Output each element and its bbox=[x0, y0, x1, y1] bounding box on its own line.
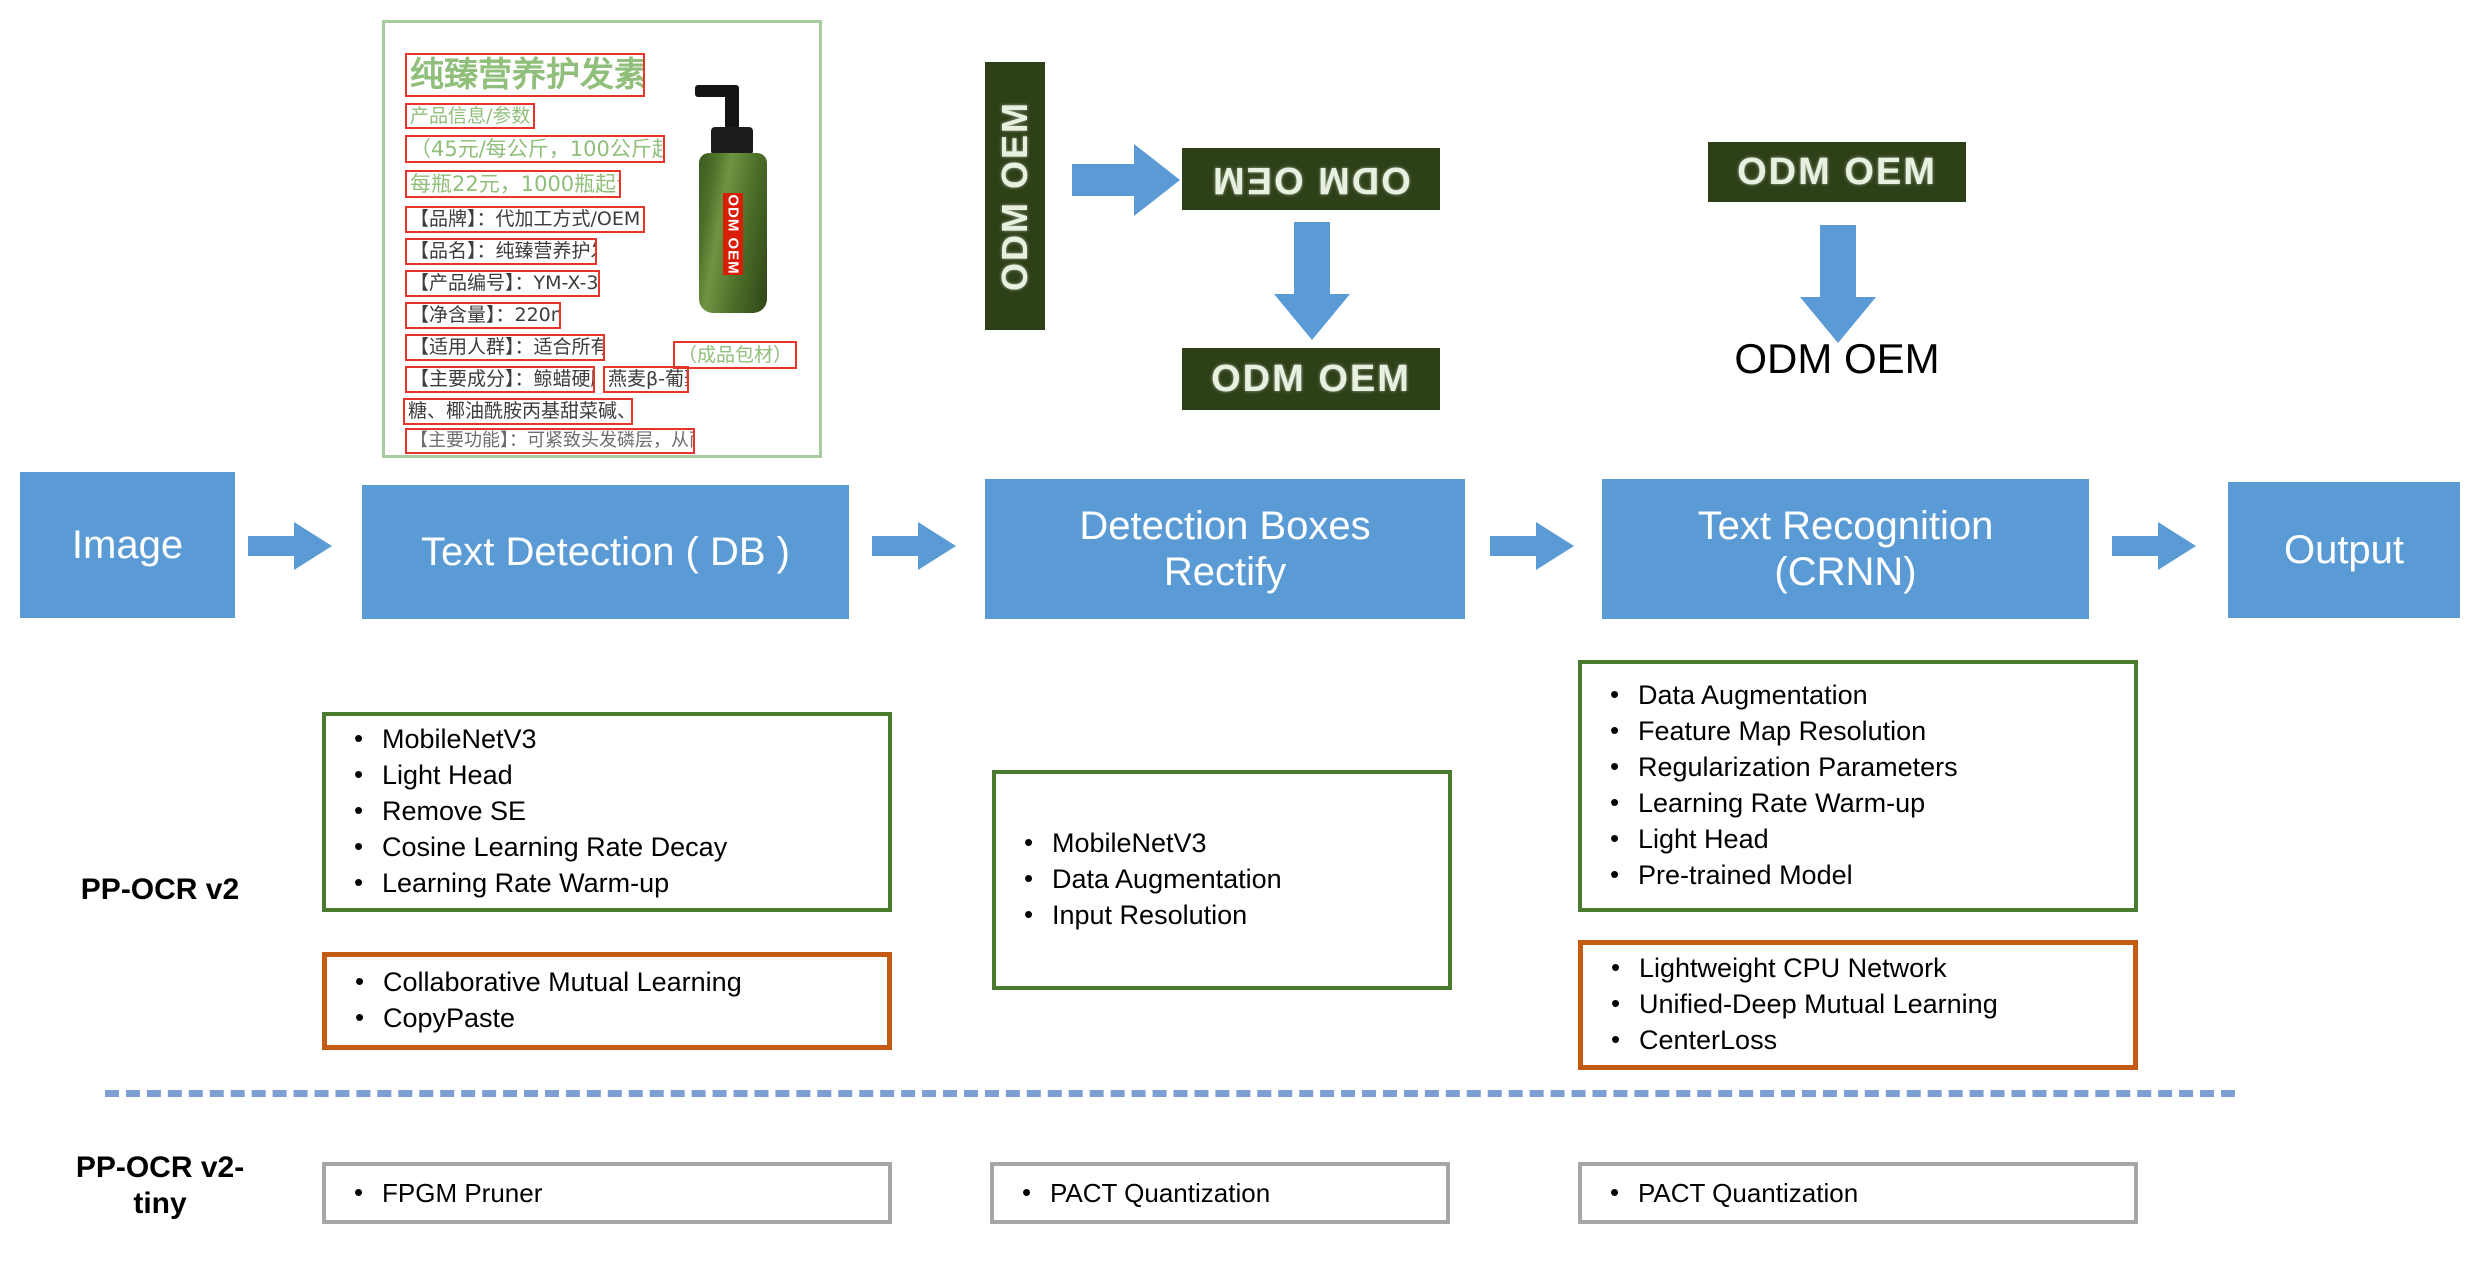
feature-box-recognition-green: Data Augmentation Feature Map Resolution… bbox=[1578, 660, 2138, 912]
feature-item: Remove SE bbox=[348, 794, 866, 830]
feature-list: FPGM Pruner bbox=[348, 1176, 866, 1211]
feature-item: Learning Rate Warm-up bbox=[1604, 786, 2112, 822]
arrow-rectify-to-recognition bbox=[1490, 520, 1575, 572]
input-line-text: 【主要成分】：鲸蜡硬脂醇 bbox=[410, 370, 595, 389]
crop-vertical-odm-oem: ODM OEM bbox=[985, 62, 1045, 330]
crop-corrected-text: ODM OEM bbox=[1211, 358, 1411, 401]
stage-text-detection-label: Text Detection ( DB ) bbox=[421, 529, 790, 575]
detection-box-line: （45元/每公斤，100公斤起订） bbox=[405, 135, 665, 163]
bottle-label-text: ODM OEM bbox=[725, 194, 742, 274]
product-bottle-image: ODM OEM bbox=[685, 83, 795, 333]
bottle-collar bbox=[711, 127, 753, 155]
input-line-text: 每瓶22元，1000瓶起订 bbox=[410, 174, 621, 195]
input-line-text: 燕麦β-葡聚 bbox=[608, 370, 689, 389]
feature-item: Unified-Deep Mutual Learning bbox=[1605, 987, 2111, 1023]
feature-item: Input Resolution bbox=[1018, 898, 1426, 934]
feature-item: MobileNetV3 bbox=[1018, 826, 1426, 862]
crop-recognition-input: ODM OEM bbox=[1708, 142, 1966, 202]
input-line-text: 【主要功能】：可紧致头发磷层，从而达到 bbox=[410, 432, 695, 450]
arrow-recognition-to-output bbox=[2112, 520, 2197, 572]
stage-detection-boxes-rectify[interactable]: Detection Boxes Rectify bbox=[985, 479, 1465, 619]
feature-item: Regularization Parameters bbox=[1604, 750, 2112, 786]
feature-item: Pre-trained Model bbox=[1604, 858, 2112, 894]
arrow-rectify-down bbox=[1272, 222, 1352, 342]
input-line-text: 【净含量】：220ml bbox=[410, 306, 561, 325]
detection-box-line: 【适用人群】：适合所有肤质 bbox=[405, 334, 605, 361]
stage-image-label: Image bbox=[72, 522, 183, 568]
feature-item: Data Augmentation bbox=[1018, 862, 1426, 898]
row-label-ppocr-v2: PP-OCR v2 bbox=[30, 872, 290, 908]
recognized-text-output: ODM OEM bbox=[1708, 335, 1966, 383]
feature-item: FPGM Pruner bbox=[348, 1176, 866, 1211]
input-line-text: 产品信息/参数 bbox=[410, 107, 530, 126]
stage-output-label: Output bbox=[2284, 527, 2404, 573]
detection-box-bottle-caption: （成品包材） bbox=[673, 341, 797, 369]
detection-box-line: 【净含量】：220ml bbox=[405, 302, 561, 329]
input-line-text: （45元/每公斤，100公斤起订） bbox=[410, 139, 665, 160]
feature-item: CopyPaste bbox=[349, 1001, 865, 1037]
feature-item: Collaborative Mutual Learning bbox=[349, 965, 865, 1001]
feature-list: PACT Quantization bbox=[1016, 1176, 1424, 1211]
arrow-detection-to-rectify bbox=[872, 520, 957, 572]
stage-text-recognition-label: Text Recognition (CRNN) bbox=[1698, 503, 1994, 595]
detection-box-line: 【主要成分】：鲸蜡硬脂醇 bbox=[405, 366, 595, 393]
detection-box-line: 【主要功能】：可紧致头发磷层，从而达到 bbox=[405, 428, 695, 454]
detection-box-line: 燕麦β-葡聚 bbox=[603, 366, 689, 393]
stage-text-recognition[interactable]: Text Recognition (CRNN) bbox=[1602, 479, 2089, 619]
stage-image[interactable]: Image bbox=[20, 472, 235, 618]
feature-item: CenterLoss bbox=[1605, 1023, 2111, 1059]
feature-item: PACT Quantization bbox=[1604, 1176, 2112, 1211]
feature-item: Light Head bbox=[348, 758, 866, 794]
feature-list: MobileNetV3 Data Augmentation Input Reso… bbox=[1018, 826, 1426, 934]
feature-item: MobileNetV3 bbox=[348, 722, 866, 758]
bottle-caption-text: （成品包材） bbox=[678, 346, 792, 365]
feature-item: Cosine Learning Rate Decay bbox=[348, 830, 866, 866]
feature-item: Light Head bbox=[1604, 822, 2112, 858]
detection-box-line: 【品牌】：代加工方式/OEM ODM bbox=[405, 206, 645, 233]
feature-item: Lightweight CPU Network bbox=[1605, 951, 2111, 987]
detection-box-title: 纯臻营养护发素 bbox=[405, 53, 645, 97]
stage-rectify-label: Detection Boxes Rectify bbox=[1079, 503, 1370, 595]
section-divider bbox=[105, 1090, 2235, 1097]
detection-box-line: 产品信息/参数 bbox=[405, 103, 535, 129]
crop-recognition-input-text: ODM OEM bbox=[1737, 151, 1937, 194]
crop-flipped-text: ODM OEM bbox=[1211, 158, 1411, 201]
feature-box-recognition-orange: Lightweight CPU Network Unified-Deep Mut… bbox=[1578, 940, 2138, 1070]
input-line-text: 【品名】：纯臻营养护发素 bbox=[410, 242, 597, 261]
feature-box-tiny-recognition: PACT Quantization bbox=[1578, 1162, 2138, 1224]
detection-box-line: 糖、椰油酰胺丙基甜菜碱、泛醌 bbox=[403, 398, 633, 425]
bottle-pump-stem bbox=[725, 85, 739, 129]
feature-list: PACT Quantization bbox=[1604, 1176, 2112, 1211]
feature-item: Learning Rate Warm-up bbox=[348, 866, 866, 902]
feature-list: Collaborative Mutual Learning CopyPaste bbox=[349, 965, 865, 1037]
detection-box-line: 每瓶22元，1000瓶起订 bbox=[405, 170, 621, 198]
crop-corrected-odm-oem: ODM OEM bbox=[1182, 348, 1440, 410]
crop-flipped-odm-oem: ODM OEM bbox=[1182, 148, 1440, 210]
feature-list: Lightweight CPU Network Unified-Deep Mut… bbox=[1605, 951, 2111, 1059]
crop-vertical-text: ODM OEM bbox=[994, 101, 1036, 291]
feature-box-rectify-green: MobileNetV3 Data Augmentation Input Reso… bbox=[992, 770, 1452, 990]
detection-box-line: 【品名】：纯臻营养护发素 bbox=[405, 238, 597, 265]
input-image-panel: 纯臻营养护发素 产品信息/参数 （45元/每公斤，100公斤起订） 每瓶22元，… bbox=[382, 20, 822, 458]
arrow-image-to-detection bbox=[248, 520, 333, 572]
stage-text-detection[interactable]: Text Detection ( DB ) bbox=[362, 485, 849, 619]
arrow-rectify-right bbox=[1072, 140, 1182, 220]
detection-box-line: 【产品编号】：YM-X-3011 bbox=[405, 270, 600, 297]
feature-box-detection-orange: Collaborative Mutual Learning CopyPaste bbox=[322, 952, 892, 1050]
feature-box-detection-green: MobileNetV3 Light Head Remove SE Cosine … bbox=[322, 712, 892, 912]
input-line-text: 【产品编号】：YM-X-3011 bbox=[410, 274, 600, 293]
feature-list: MobileNetV3 Light Head Remove SE Cosine … bbox=[348, 722, 866, 902]
detection-box-line: 即时持久改善头发光泽的效果，给干燥的头 bbox=[405, 457, 700, 458]
feature-item: PACT Quantization bbox=[1016, 1176, 1424, 1211]
row-label-ppocr-v2-tiny: PP-OCR v2- tiny bbox=[30, 1150, 290, 1222]
input-line-text: 【适用人群】：适合所有肤质 bbox=[410, 338, 605, 357]
arrow-recognition-down bbox=[1798, 225, 1878, 345]
input-title-text: 纯臻营养护发素 bbox=[410, 58, 645, 92]
feature-item: Data Augmentation bbox=[1604, 678, 2112, 714]
input-line-text: 【品牌】：代加工方式/OEM ODM bbox=[410, 210, 645, 229]
bottle-label: ODM OEM bbox=[723, 193, 743, 275]
feature-list: Data Augmentation Feature Map Resolution… bbox=[1604, 678, 2112, 893]
stage-output[interactable]: Output bbox=[2228, 482, 2460, 618]
feature-item: Feature Map Resolution bbox=[1604, 714, 2112, 750]
feature-box-tiny-detection: FPGM Pruner bbox=[322, 1162, 892, 1224]
feature-box-tiny-rectify: PACT Quantization bbox=[990, 1162, 1450, 1224]
input-line-text: 糖、椰油酰胺丙基甜菜碱、泛醌 bbox=[408, 402, 633, 421]
